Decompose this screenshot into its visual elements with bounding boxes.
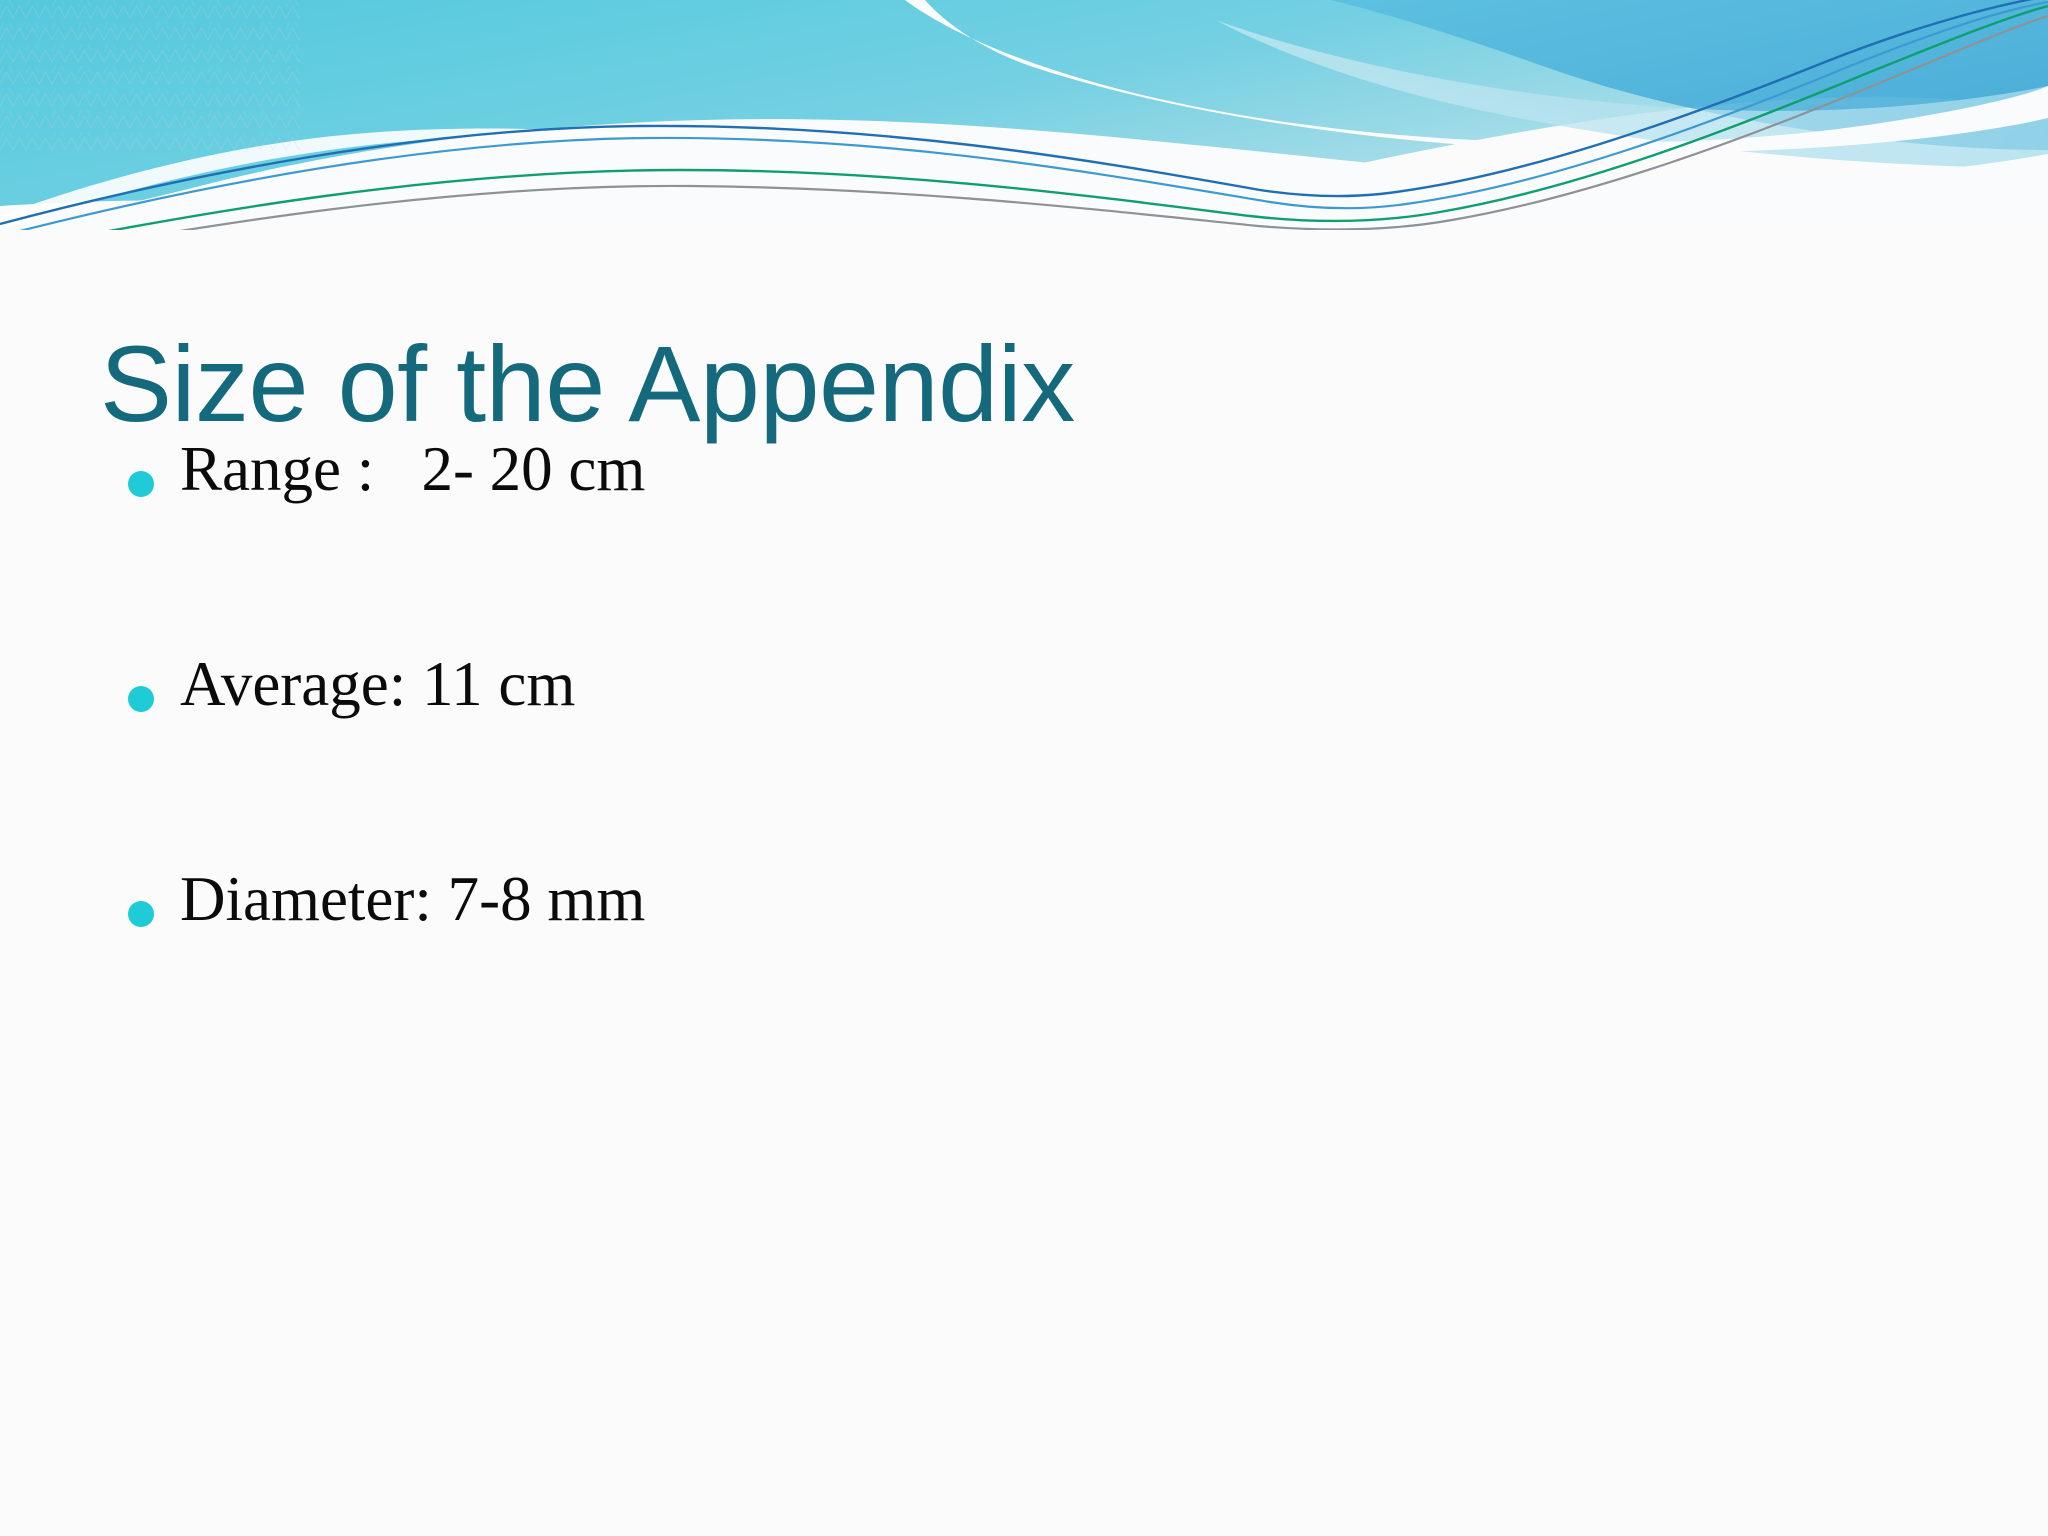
presentation-slide: Size of the Appendix Range : 2- 20 cm Av… — [0, 0, 2048, 1536]
circle-bullet-icon — [128, 686, 154, 712]
list-item: Diameter: 7-8 mm — [118, 868, 1898, 1083]
list-item-label: Range : 2- 20 cm — [180, 438, 1898, 501]
list-item-label: Average: 11 cm — [180, 653, 1898, 716]
circle-bullet-icon — [128, 901, 154, 927]
slide-bullet-list: Range : 2- 20 cm Average: 11 cm Diameter… — [118, 438, 1898, 1083]
slide-title: Size of the Appendix — [100, 327, 1800, 441]
slide-header-decoration — [0, 0, 2048, 230]
list-item: Range : 2- 20 cm — [118, 438, 1898, 653]
list-item-label: Diameter: 7-8 mm — [180, 868, 1898, 931]
circle-bullet-icon — [128, 471, 154, 497]
list-item: Average: 11 cm — [118, 653, 1898, 868]
